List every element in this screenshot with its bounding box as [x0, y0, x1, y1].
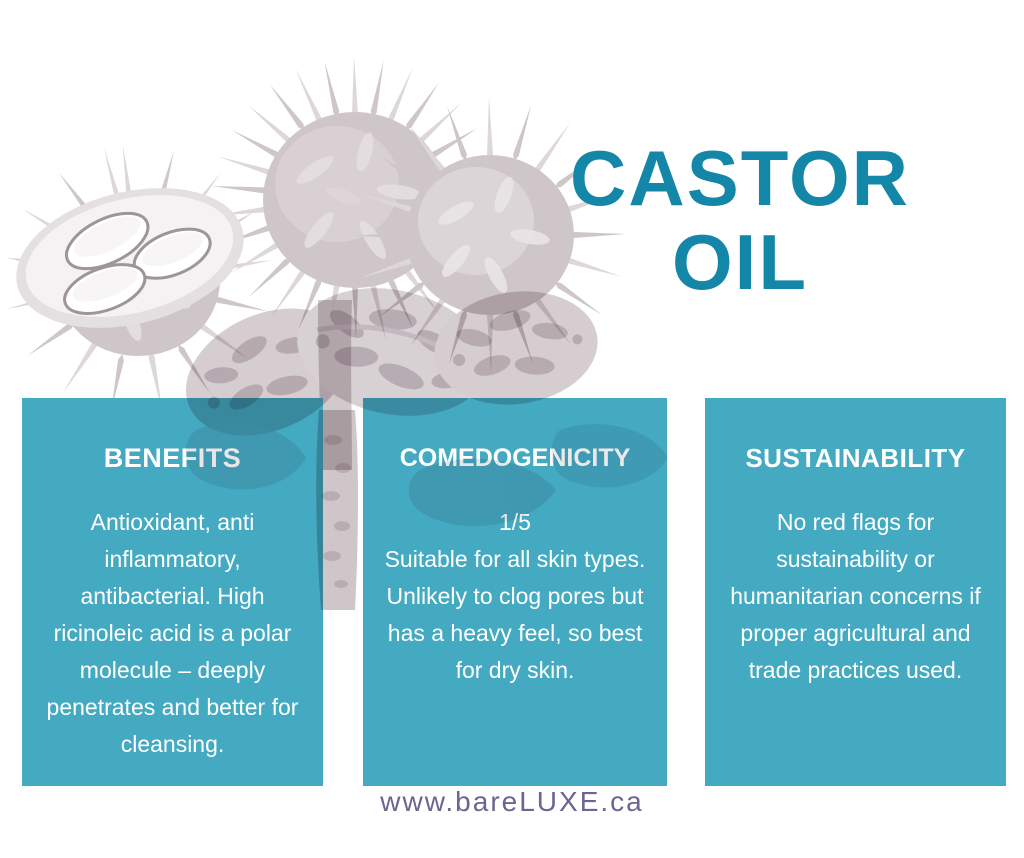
castor-pod-left	[4, 144, 273, 414]
castor-seed-cavities	[44, 186, 224, 324]
footer-website-url[interactable]: www.bareLUXE.ca	[0, 786, 1024, 818]
card-body-sustainability: No red flags for sustainability or human…	[719, 504, 992, 689]
title-line-castor: CASTOR	[520, 136, 960, 220]
castor-pod-cut-open-with-seeds	[1, 166, 258, 350]
page-title: CASTOR OIL	[520, 136, 960, 304]
card-body-benefits: Antioxidant, anti inflammatory, antibact…	[36, 504, 309, 763]
castor-pod-top-center	[211, 56, 498, 341]
card-heading-comedogenicity: COMEDOGENICITY	[377, 442, 653, 474]
card-heading-benefits: BENEFITS	[36, 442, 309, 474]
card-sustainability: SUSTAINABILITY No red flags for sustaina…	[705, 398, 1006, 786]
card-heading-sustainability: SUSTAINABILITY	[719, 442, 992, 474]
infographic-poster: BENEFITS Antioxidant, anti inflammatory,…	[0, 0, 1024, 858]
castor-stem	[318, 300, 352, 470]
title-line-oil: OIL	[520, 220, 960, 304]
card-body-comedogenicity: 1/5 Suitable for all skin types. Unlikel…	[377, 504, 653, 689]
card-comedogenicity: COMEDOGENICITY 1/5 Suitable for all skin…	[363, 398, 667, 786]
card-benefits: BENEFITS Antioxidant, anti inflammatory,…	[22, 398, 323, 786]
